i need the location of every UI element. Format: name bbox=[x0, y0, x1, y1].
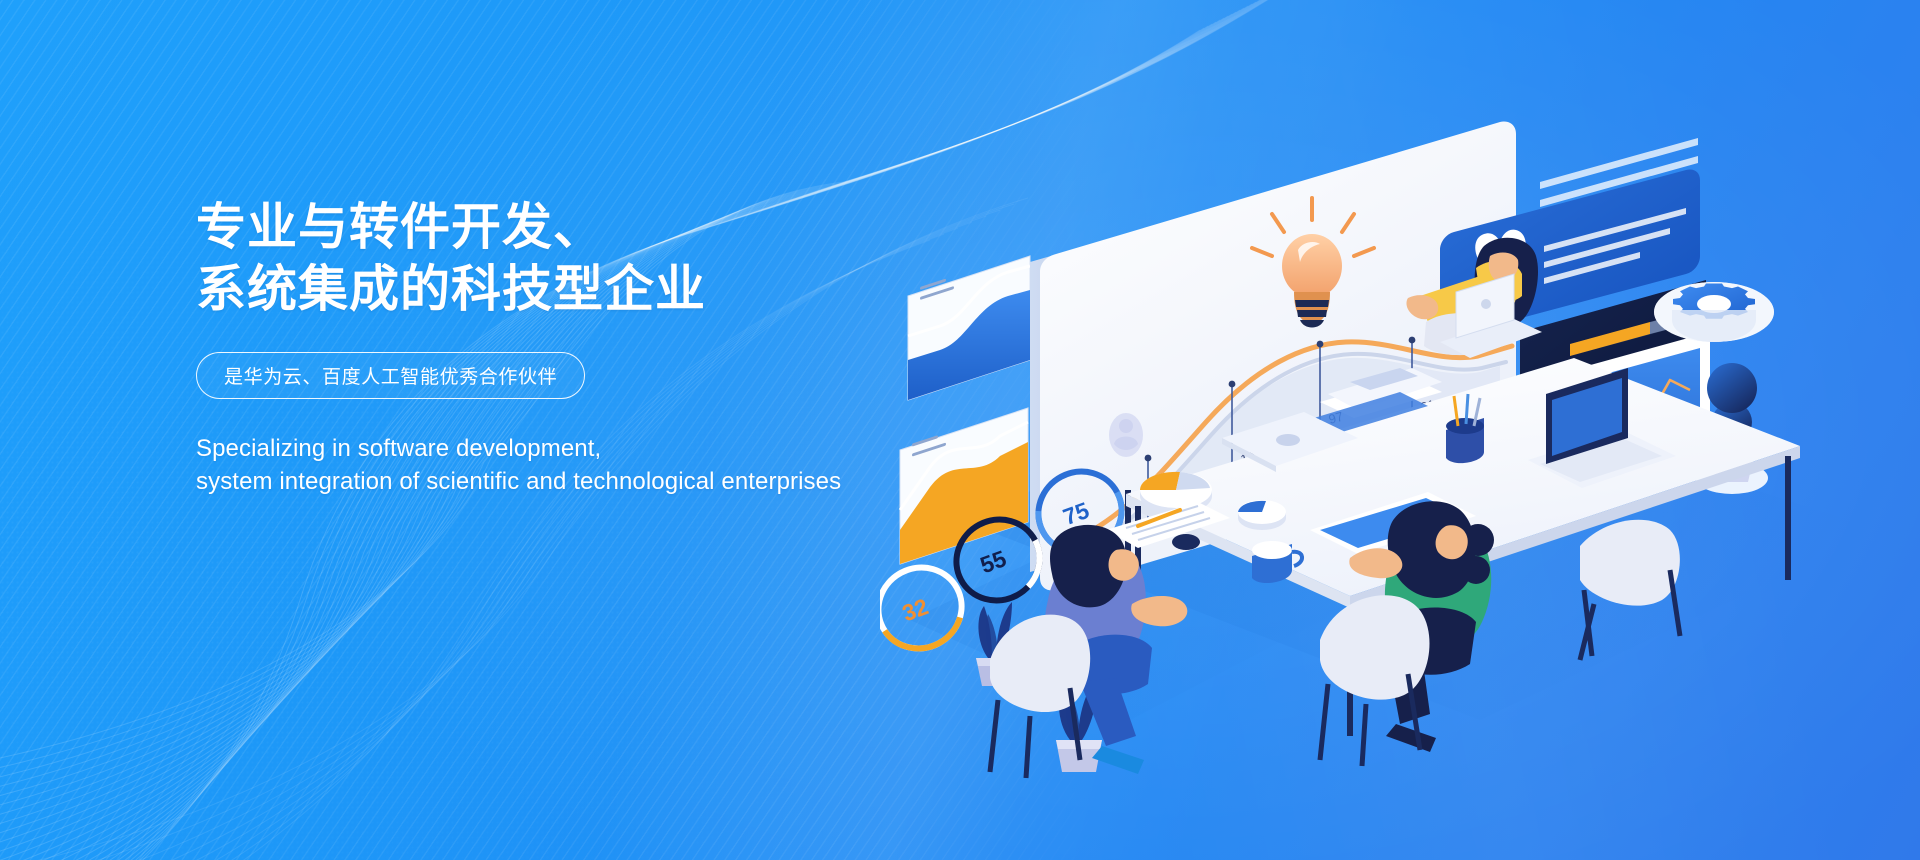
hero-illustration: 65 123 97 81 bbox=[880, 60, 1920, 840]
partner-badge-pill[interactable]: 是华为云、百度人工智能优秀合作伙伴 bbox=[196, 352, 585, 399]
avatar bbox=[1109, 413, 1143, 457]
gear-icon bbox=[1654, 282, 1774, 342]
hero-banner: 专业与转件开发、 系统集成的科技型企业 是华为云、百度人工智能优秀合作伙伴 Sp… bbox=[0, 0, 1920, 860]
side-card-top bbox=[908, 256, 1030, 400]
subcopy-line-1: Specializing in software development, bbox=[196, 432, 841, 465]
headline-line-2: 系统集成的科技型企业 bbox=[196, 258, 956, 320]
badge-value-55: 55 bbox=[977, 545, 1010, 578]
hero-subcopy: Specializing in software development, sy… bbox=[196, 432, 841, 498]
subcopy-line-2: system integration of scientific and tec… bbox=[196, 465, 841, 498]
hero-copy: 专业与转件开发、 系统集成的科技型企业 bbox=[196, 196, 956, 320]
headline-line-1: 专业与转件开发、 bbox=[196, 196, 956, 258]
page-title: 专业与转件开发、 系统集成的科技型企业 bbox=[196, 196, 956, 320]
badge-32: 32 bbox=[880, 553, 976, 663]
partner-badge-label: 是华为云、百度人工智能优秀合作伙伴 bbox=[224, 362, 557, 389]
pie-chart-icon-2 bbox=[1238, 500, 1286, 530]
mouse-icon bbox=[1172, 534, 1200, 550]
